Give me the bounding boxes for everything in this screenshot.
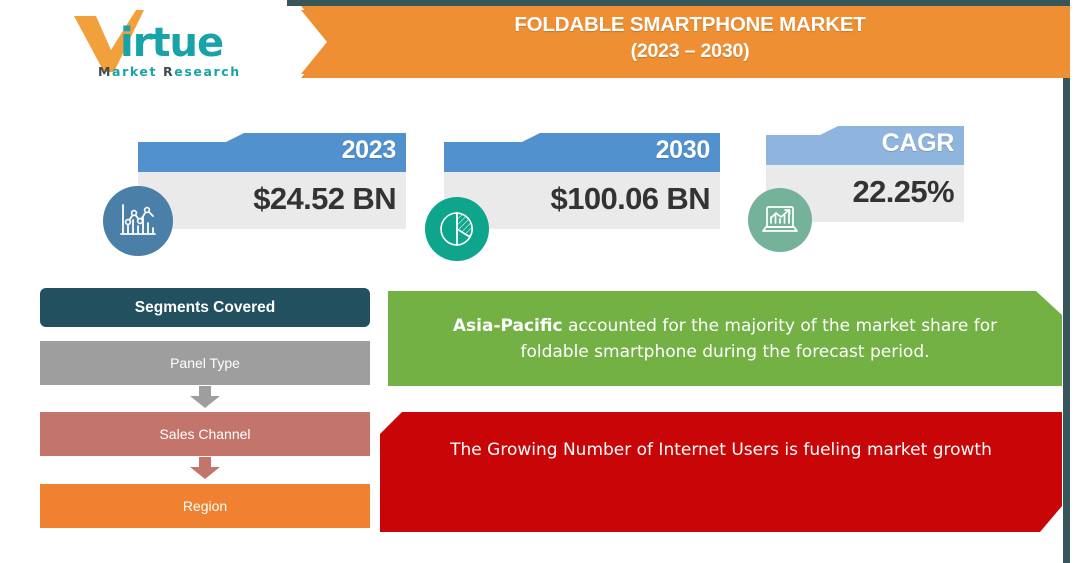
infographic-root: irtue Market Research FOLDABLE SMARTPHON… xyxy=(0,0,1080,563)
segment-label: Region xyxy=(183,498,227,514)
segments-header: Segments Covered xyxy=(40,288,370,327)
callout-bold-lead: Asia-Pacific xyxy=(453,316,563,336)
page-title-line2: (2023 – 2030) xyxy=(340,38,1040,64)
stat-card-label: 2030 xyxy=(656,136,710,165)
page-title-line1: FOLDABLE SMARTPHONE MARKET xyxy=(340,12,1040,38)
callout-region-insight: Asia-Pacific accounted for the majority … xyxy=(388,291,1062,386)
logo-tagline: Market Research xyxy=(98,64,241,79)
stat-card-value: $24.52 BN xyxy=(138,181,396,217)
growth-laptop-icon xyxy=(748,188,812,252)
frame-right-border xyxy=(1063,0,1070,563)
bar-line-chart-icon xyxy=(103,186,173,256)
stat-card-label: 2023 xyxy=(342,136,396,165)
logo-tagline-arket: arket xyxy=(112,64,157,79)
logo-tagline-r: R xyxy=(163,64,174,79)
logo-tagline-m: M xyxy=(98,64,112,79)
pie-chart-icon xyxy=(425,197,489,261)
segment-item-region[interactable]: Region xyxy=(40,484,370,528)
brand-logo: irtue Market Research xyxy=(36,8,276,78)
callout-text: The Growing Number of Internet Users is … xyxy=(380,412,1062,532)
page-title: FOLDABLE SMARTPHONE MARKET (2023 – 2030) xyxy=(340,12,1040,64)
callout-rest: accounted for the majority of the market… xyxy=(520,316,997,362)
segment-item-panel-type[interactable]: Panel Type xyxy=(40,341,370,385)
chevron-right-icon xyxy=(287,6,347,78)
arrow-down-icon xyxy=(190,386,220,408)
logo-tagline-esearch: esearch xyxy=(174,64,241,79)
stat-card-label: CAGR xyxy=(882,129,954,158)
callout-text: Asia-Pacific accounted for the majority … xyxy=(388,291,1062,386)
segment-label: Panel Type xyxy=(170,355,240,371)
segment-item-sales-channel[interactable]: Sales Channel xyxy=(40,412,370,456)
callout-driver-insight: The Growing Number of Internet Users is … xyxy=(380,412,1062,532)
stat-card-2023: 2023 $24.52 BN xyxy=(138,133,406,243)
logo-wordmark: irtue xyxy=(120,20,223,66)
segment-label: Sales Channel xyxy=(159,426,250,442)
arrow-down-icon xyxy=(190,457,220,479)
